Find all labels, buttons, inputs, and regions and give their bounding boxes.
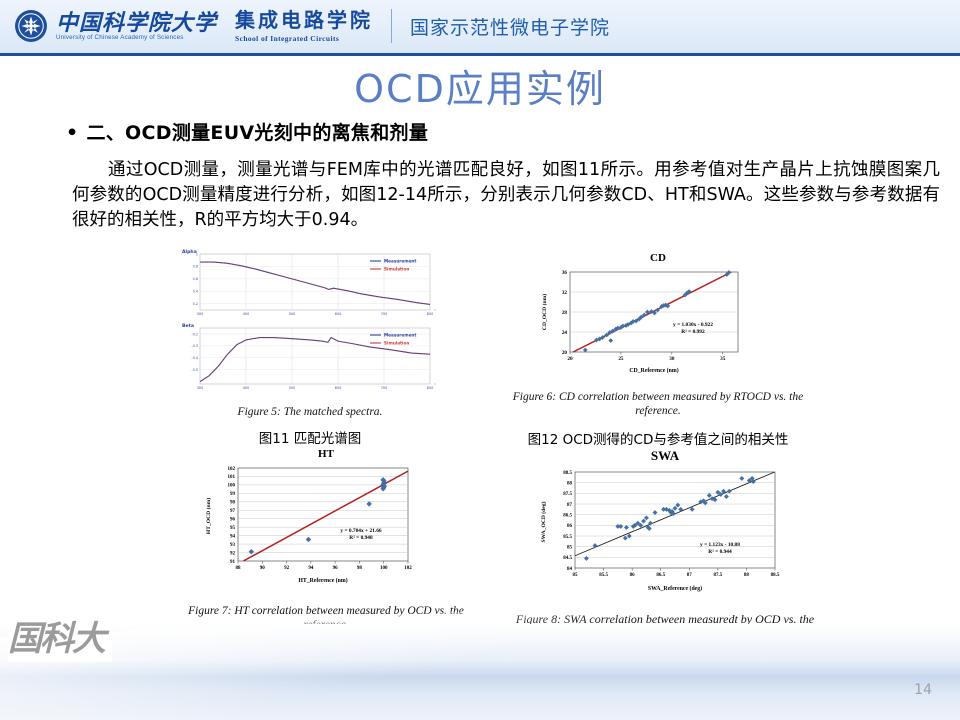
svg-text:20: 20 [562, 350, 568, 356]
sic-wordmark: 集成电路学院 School of Integrated Circuits [235, 10, 373, 43]
svg-text:88.5: 88.5 [563, 471, 572, 476]
svg-text:HT_Reference (nm): HT_Reference (nm) [298, 577, 347, 584]
swa-correlation-chart: 8484.58585.58686.58787.58888.58585.58686… [505, 464, 825, 604]
svg-text:102: 102 [228, 467, 236, 472]
svg-text:84: 84 [567, 567, 573, 572]
figure-matched-spectra: 3004005006007008000.20.40.60.81AlphaMeas… [176, 248, 444, 447]
svg-text:>: > [434, 308, 436, 312]
svg-text:88: 88 [567, 481, 573, 486]
svg-text:90: 90 [260, 566, 266, 571]
svg-text:87.5: 87.5 [563, 492, 572, 497]
page-title: OCD应用实例 [0, 58, 960, 113]
ucas-name-cn: 中国科学院大学 [56, 11, 217, 34]
svg-text:600: 600 [335, 386, 341, 390]
svg-text:R² = 0.944: R² = 0.944 [708, 549, 732, 555]
slide: 中国科学院大学 University of Chinese Academy of… [0, 0, 960, 720]
footer-sweep-decoration [0, 579, 960, 720]
figure-cd-correlation: CD 202428323620253035CD_OCD (nm)CD_Refer… [508, 252, 808, 448]
svg-text:94: 94 [230, 534, 236, 539]
svg-text:Measurement: Measurement [384, 259, 416, 264]
svg-text:-0.4: -0.4 [191, 356, 198, 360]
svg-text:92: 92 [230, 551, 236, 556]
svg-text:92: 92 [284, 566, 290, 571]
section-heading: •二、OCD测量EUV光刻中的离焦和剂量 [66, 118, 428, 145]
cd-chart-title: CD [508, 252, 808, 264]
svg-text:Simulation: Simulation [384, 267, 409, 272]
svg-text:88: 88 [236, 566, 242, 571]
svg-text:25: 25 [618, 356, 624, 362]
svg-text:0.8: 0.8 [193, 265, 198, 269]
svg-text:36: 36 [562, 270, 568, 276]
svg-text:35: 35 [720, 356, 726, 362]
svg-text:98: 98 [230, 501, 236, 506]
svg-text:87: 87 [687, 573, 693, 578]
svg-text:800: 800 [427, 386, 433, 390]
svg-text:28: 28 [562, 310, 568, 316]
svg-text:102: 102 [404, 566, 412, 571]
svg-text:101: 101 [228, 475, 236, 480]
ucas-calligraphy-logo: 国科大 [8, 618, 112, 662]
svg-text:96: 96 [230, 517, 236, 522]
svg-text:86.5: 86.5 [563, 513, 572, 518]
svg-text:85.5: 85.5 [599, 573, 608, 578]
svg-text:300: 300 [197, 386, 203, 390]
national-school-label: 国家示范性微电子学院 [410, 13, 610, 40]
svg-text:Measurement: Measurement [384, 333, 416, 338]
svg-text:0.6: 0.6 [193, 277, 198, 281]
svg-text:R² = 0.948: R² = 0.948 [349, 535, 373, 541]
svg-text:99: 99 [230, 492, 236, 497]
svg-text:CD_Reference (nm): CD_Reference (nm) [629, 367, 678, 374]
svg-text:96: 96 [333, 566, 339, 571]
svg-text:500: 500 [289, 386, 295, 390]
ht-correlation-chart: 9192939495969798991001011028890929496981… [176, 460, 476, 595]
sic-name-cn: 集成电路学院 [235, 10, 373, 32]
ucas-seal-icon [14, 9, 48, 43]
svg-text:85: 85 [573, 573, 579, 578]
svg-text:97: 97 [230, 509, 236, 514]
svg-text:CD_OCD (nm): CD_OCD (nm) [541, 294, 548, 330]
svg-text:86: 86 [567, 524, 573, 529]
svg-text:86: 86 [630, 573, 636, 578]
svg-text:-0.3: -0.3 [191, 344, 198, 348]
svg-text:y = 0.784x + 21.66: y = 0.784x + 21.66 [340, 528, 381, 534]
page-number: 14 [914, 682, 932, 698]
svg-text:0.2: 0.2 [193, 302, 198, 306]
svg-text:700: 700 [381, 312, 387, 316]
svg-text:87: 87 [567, 503, 573, 508]
svg-text:>: > [434, 382, 436, 386]
svg-text:0.4: 0.4 [193, 290, 198, 294]
svg-text:85.5: 85.5 [563, 535, 572, 540]
svg-text:700: 700 [381, 386, 387, 390]
figure5-caption-cn: 图11 匹配光谱图 [176, 427, 444, 447]
svg-text:Alpha: Alpha [182, 249, 197, 255]
header-divider [391, 9, 392, 43]
svg-text:Simulation: Simulation [384, 341, 409, 346]
svg-text:Beta: Beta [182, 323, 194, 329]
svg-text:-0.5: -0.5 [191, 368, 198, 372]
svg-text:300: 300 [197, 312, 203, 316]
svg-text:SWA_Reference (deg): SWA_Reference (deg) [648, 585, 702, 592]
svg-text:SWA_OCD (deg): SWA_OCD (deg) [540, 501, 547, 542]
svg-text:86.5: 86.5 [656, 573, 665, 578]
ht-chart-title: HT [176, 448, 476, 460]
footer-background [0, 624, 960, 720]
svg-text:87.5: 87.5 [713, 573, 722, 578]
svg-text:88: 88 [744, 573, 750, 578]
matched-spectra-chart: 3004005006007008000.20.40.60.81AlphaMeas… [176, 248, 444, 398]
svg-text:600: 600 [335, 312, 341, 316]
figure5-caption-en: Figure 5: The matched spectra. [176, 405, 444, 419]
svg-text:400: 400 [243, 312, 249, 316]
sic-name-en: School of Integrated Circuits [235, 34, 373, 43]
slide-header: 中国科学院大学 University of Chinese Academy of… [0, 0, 960, 56]
svg-text:93: 93 [230, 543, 236, 548]
svg-text:95: 95 [230, 526, 236, 531]
svg-text:400: 400 [243, 386, 249, 390]
svg-text:800: 800 [427, 312, 433, 316]
body-paragraph: 通过OCD测量，测量光谱与FEM库中的光谱匹配良好，如图11所示。用参考值对生产… [72, 158, 940, 233]
svg-text:30: 30 [669, 356, 675, 362]
svg-text:100: 100 [228, 484, 236, 489]
svg-text:100: 100 [380, 566, 388, 571]
section-heading-text: 二、OCD测量EUV光刻中的离焦和剂量 [86, 122, 428, 144]
svg-text:94: 94 [308, 566, 314, 571]
swa-chart-title: SWA [505, 448, 825, 464]
svg-text:32: 32 [562, 290, 568, 296]
svg-text:y = 1.123x - 10.88: y = 1.123x - 10.88 [700, 542, 740, 548]
svg-text:y = 1.030x - 0.922: y = 1.030x - 0.922 [673, 322, 713, 328]
figure6-caption-cn: 图12 OCD测得的CD与参考值之间的相关性 [508, 428, 808, 448]
svg-text:85: 85 [567, 545, 573, 550]
svg-text:HT_OCD (nm): HT_OCD (nm) [205, 498, 212, 534]
svg-text:R² = 0.992: R² = 0.992 [681, 329, 705, 335]
svg-text:91: 91 [230, 560, 236, 565]
svg-text:98: 98 [357, 566, 363, 571]
svg-text:500: 500 [289, 312, 295, 316]
svg-text:84.5: 84.5 [563, 556, 572, 561]
ucas-wordmark: 中国科学院大学 University of Chinese Academy of… [56, 11, 217, 42]
ucas-name-en: University of Chinese Academy of Science… [56, 35, 217, 42]
cd-correlation-chart: 202428323620253035CD_OCD (nm)CD_Referenc… [508, 264, 808, 382]
svg-text:-0.2: -0.2 [191, 332, 198, 336]
svg-text:24: 24 [562, 330, 568, 336]
svg-text:20: 20 [567, 356, 573, 362]
bullet-marker-icon: • [66, 122, 78, 144]
svg-text:88.5: 88.5 [771, 573, 780, 578]
figure6-caption-en: Figure 6: CD correlation between measure… [508, 390, 808, 419]
